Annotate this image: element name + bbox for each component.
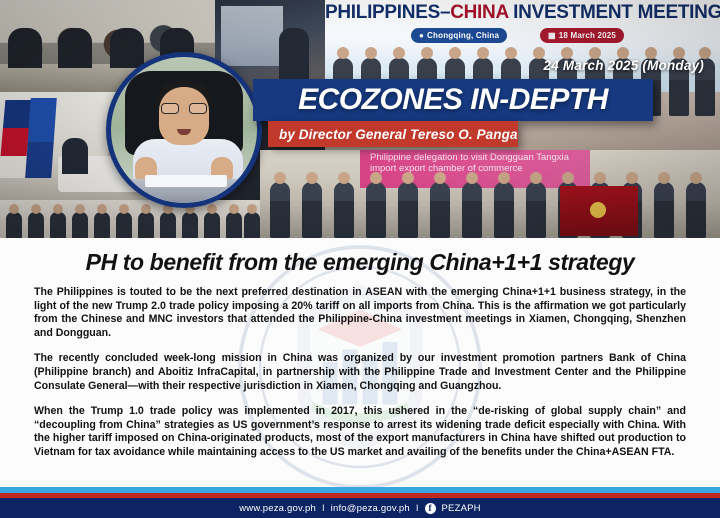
delegation-banner-text: Philippine delegation to visit Dongguan … (370, 152, 585, 174)
podium-screen (221, 6, 283, 66)
meeting-title-part2: INVESTMENT MEETING (508, 2, 720, 23)
boardroom-person (110, 28, 144, 68)
director-general-portrait (106, 52, 262, 208)
program-title-ribbon: ECOZONES IN-DEPTH (253, 79, 653, 121)
article-headline: PH to benefit from the emerging China+1+… (0, 249, 720, 276)
map-pin-icon: ● (419, 31, 424, 40)
portrait-face (159, 87, 209, 145)
publication-date: 24 March 2025 (Monday) (544, 58, 704, 73)
footer-separator: I (416, 503, 419, 514)
meeting-title-highlight: CHINA (450, 2, 508, 23)
asean-flag (25, 98, 57, 178)
facebook-icon[interactable]: f (425, 503, 436, 514)
byline-text: by Director General Tereso O. Panga (279, 127, 518, 142)
boardroom-person (8, 28, 42, 68)
byline-ribbon: by Director General Tereso O. Panga (268, 121, 518, 147)
header-photo-collage: PHILIPPINES–CHINA INVESTMENT MEETING ● C… (0, 0, 720, 238)
footer-facebook-handle[interactable]: PEZAPH (442, 503, 481, 514)
china-chamber-flag (560, 186, 638, 236)
infographic-page: PHILIPPINES–CHINA INVESTMENT MEETING ● C… (0, 0, 720, 518)
photo-delegation-chamber: Philippine delegation to visit Dongguan … (260, 150, 720, 238)
article-paragraphs: The Philippines is touted to be the next… (34, 286, 686, 472)
meeting-date-badge: ▦ 18 March 2025 (540, 28, 624, 43)
meeting-location-text: Chongqing, China (427, 31, 499, 40)
meeting-banner-title: PHILIPPINES–CHINA INVESTMENT MEETING (325, 2, 720, 24)
meeting-date-text: 18 March 2025 (559, 31, 616, 40)
portrait-papers (145, 175, 227, 187)
paragraph-2: The recently concluded week-long mission… (34, 352, 686, 393)
eyeglasses-icon (161, 103, 207, 114)
footer-email[interactable]: info@peza.gov.ph (331, 503, 410, 514)
meeting-location-badge: ● Chongqing, China (411, 28, 507, 43)
seated-person (62, 138, 88, 174)
program-title: ECOZONES IN-DEPTH (253, 83, 653, 117)
paragraph-3: When the Trump 1.0 trade policy was impl… (34, 405, 686, 459)
footer-contact-bar: www.peza.gov.ph I info@peza.gov.ph I f P… (0, 498, 720, 518)
page-footer: www.peza.gov.ph I info@peza.gov.ph I f P… (0, 487, 720, 518)
footer-separator: I (322, 503, 325, 514)
footer-website[interactable]: www.peza.gov.ph (239, 503, 316, 514)
paragraph-1: The Philippines is touted to be the next… (34, 286, 686, 340)
podium-speaker (279, 28, 309, 86)
boardroom-person (58, 28, 92, 68)
calendar-icon: ▦ (548, 31, 556, 40)
article-body: PH to benefit from the emerging China+1+… (0, 238, 720, 487)
photo-tcl-group: TCL (0, 200, 260, 238)
meeting-title-part1: PHILIPPINES– (325, 2, 450, 23)
